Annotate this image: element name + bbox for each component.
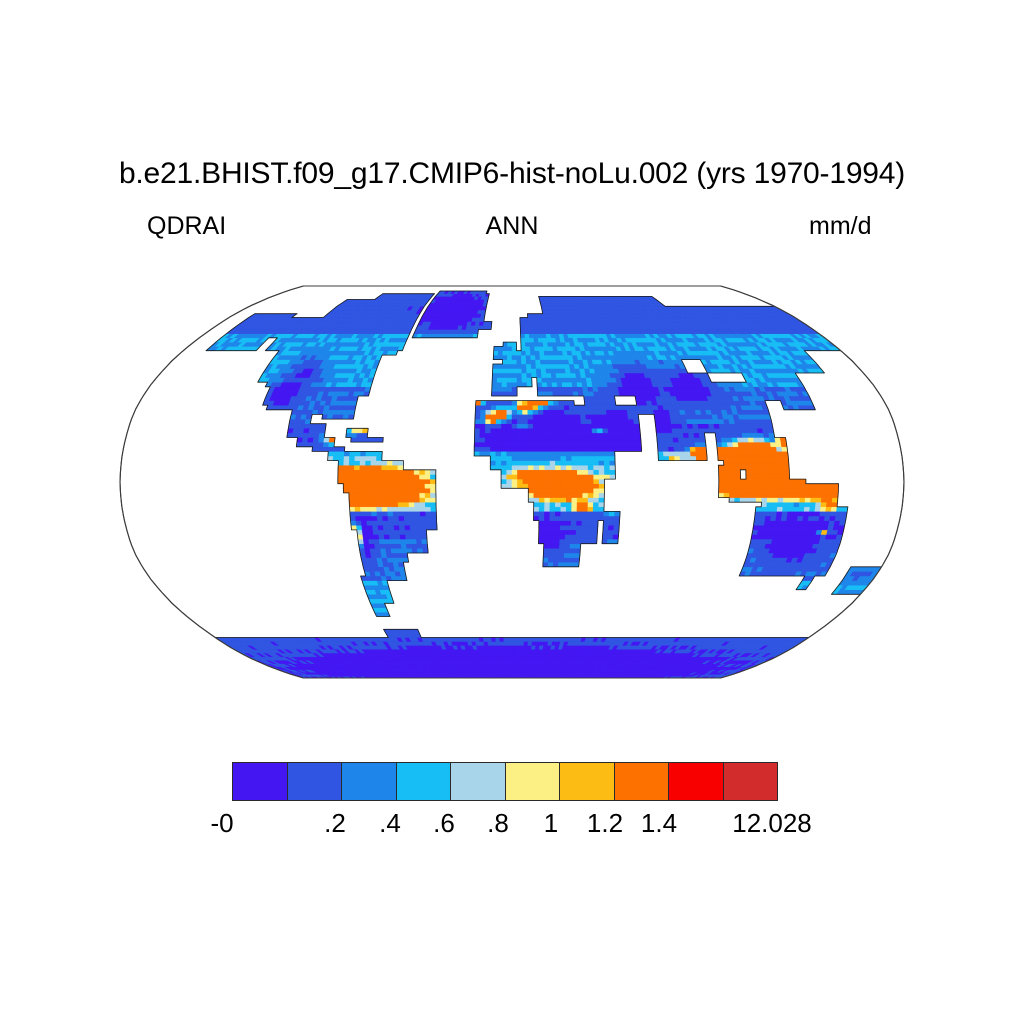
- colorbar[interactable]: [232, 762, 778, 801]
- colorbar-swatch[interactable]: [233, 763, 288, 800]
- colorbar-tick-label: .2: [324, 807, 346, 839]
- colorbar-tick-label: .4: [379, 807, 401, 839]
- colorbar-tick-label: .8: [487, 807, 509, 839]
- units-label: mm/d: [809, 211, 872, 241]
- map-plot-area: [60, 238, 964, 728]
- colorbar-swatch[interactable]: [560, 763, 615, 800]
- page-title: b.e21.BHIST.f09_g17.CMIP6-hist-noLu.002 …: [0, 156, 1024, 192]
- colorbar-swatch[interactable]: [451, 763, 506, 800]
- colorbar-swatch[interactable]: [669, 763, 724, 800]
- colorbar-tick-label: 1.4: [641, 807, 677, 839]
- colorbar-swatch[interactable]: [288, 763, 343, 800]
- colorbar-swatch[interactable]: [397, 763, 452, 800]
- world-map-svg: [60, 238, 964, 728]
- colorbar-swatch[interactable]: [615, 763, 670, 800]
- colorbar-labels: -0.2.4.6.811.21.412.028: [0, 807, 1024, 841]
- colorbar-tick-label: 1: [544, 807, 558, 839]
- colorbar-swatch[interactable]: [506, 763, 561, 800]
- colorbar-swatch[interactable]: [724, 763, 778, 800]
- climate-map-figure: b.e21.BHIST.f09_g17.CMIP6-hist-noLu.002 …: [0, 0, 1024, 1024]
- colorbar-tick-label: -0: [210, 807, 233, 839]
- colorbar-tick-label: 1.2: [587, 807, 623, 839]
- colorbar-swatch[interactable]: [342, 763, 397, 800]
- colorbar-tick-label: 12.028: [732, 807, 812, 839]
- colorbar-tick-label: .6: [433, 807, 455, 839]
